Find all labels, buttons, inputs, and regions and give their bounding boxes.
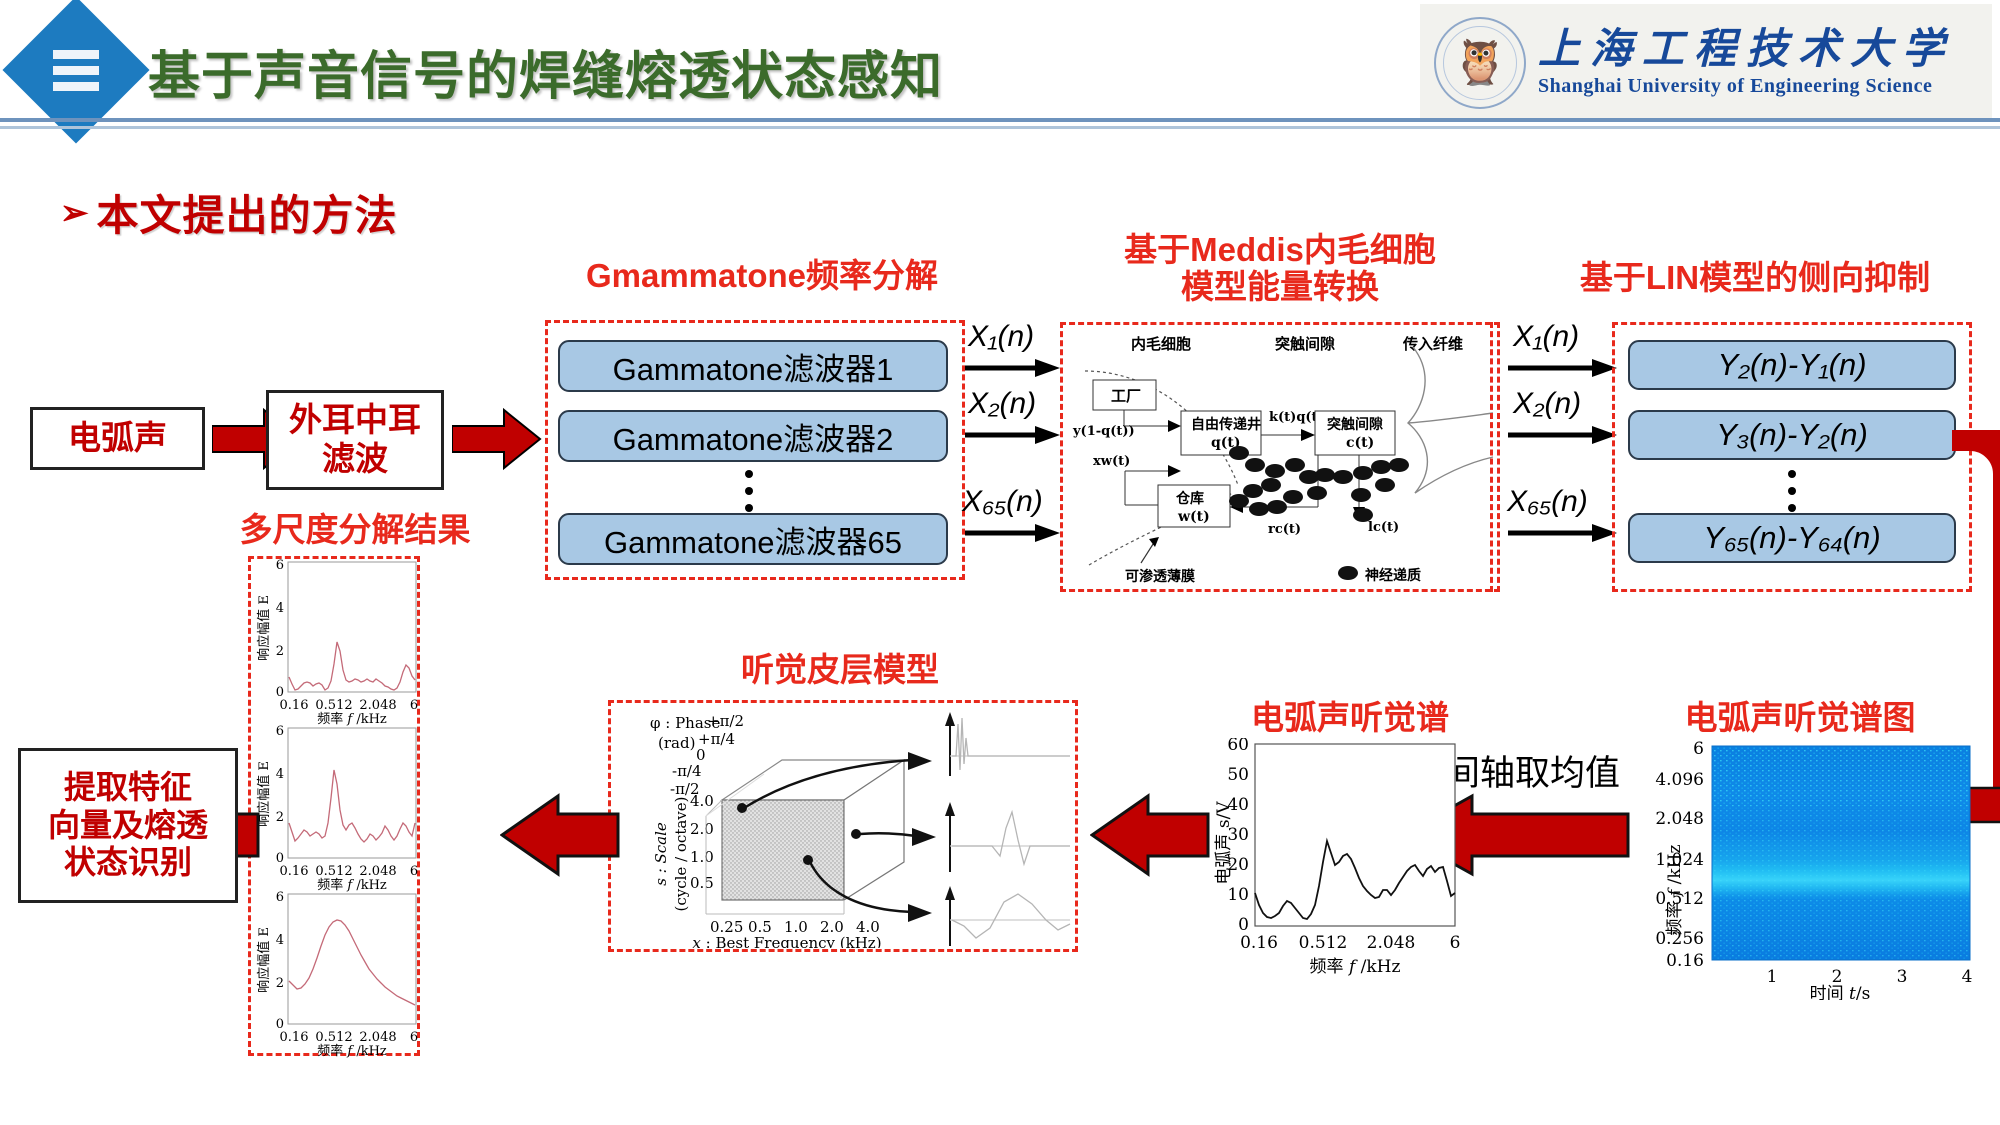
svg-text:响应幅值 E: 响应幅值 E bbox=[256, 927, 272, 993]
svg-text:4: 4 bbox=[276, 601, 284, 616]
svg-text:4.0: 4.0 bbox=[690, 792, 714, 810]
signal-x2-label: X₂(n) bbox=[968, 387, 1036, 421]
svg-text:4.096: 4.096 bbox=[1655, 770, 1704, 790]
signal-x1-label: X₁(n) bbox=[968, 320, 1034, 354]
svg-text:电弧声 s/V: 电弧声 s/V bbox=[1214, 801, 1234, 885]
svg-text:6: 6 bbox=[1450, 933, 1461, 953]
svg-text:c(t): c(t) bbox=[1346, 435, 1374, 451]
svg-text:6: 6 bbox=[1693, 740, 1704, 759]
svg-text:3: 3 bbox=[1897, 967, 1908, 987]
spectrum-chart: 60 50 40 30 20 10 0 电弧声 s/V 0.16 0.512 2… bbox=[1195, 738, 1495, 988]
svg-text:0: 0 bbox=[1238, 915, 1249, 935]
lin-input-x65-label: X₆₅(n) bbox=[1507, 485, 1588, 519]
svg-text:w(t): w(t) bbox=[1177, 509, 1210, 525]
svg-text:2.048: 2.048 bbox=[1367, 933, 1416, 953]
gammatone-filter-1: Gammatone滤波器1 bbox=[558, 340, 948, 392]
signal-x65-label: X₆₅(n) bbox=[962, 485, 1043, 519]
cortex-title: 听觉皮层模型 bbox=[690, 652, 990, 689]
svg-text:6: 6 bbox=[410, 698, 418, 713]
meddis-title: 基于Meddis内毛细胞 模型能量转换 bbox=[1060, 232, 1500, 306]
lin-box-65: Y₆₅(n)-Y₆₄(n) bbox=[1628, 513, 1956, 563]
svg-text:0.512: 0.512 bbox=[315, 864, 352, 879]
multiscale-chart-2: 6 4 2 0 响应幅值 E 0.16 0.512 2.048 6 频率 f /… bbox=[248, 722, 424, 892]
svg-text:0.16: 0.16 bbox=[1240, 933, 1278, 953]
bird-icon: 🦉 bbox=[1453, 41, 1508, 85]
svg-text:自由传递井: 自由传递井 bbox=[1191, 416, 1261, 433]
svg-text:2.0: 2.0 bbox=[690, 820, 714, 838]
svg-text:频率 f /kHz: 频率 f /kHz bbox=[1665, 845, 1685, 936]
arrow-spectrum-to-cortex bbox=[1090, 790, 1210, 880]
university-logo: 🦉 上海工程技术大学 Shanghai University of Engine… bbox=[1420, 4, 1992, 122]
svg-text:4: 4 bbox=[1962, 967, 1973, 987]
section-heading: ➢ 本文提出的方法 bbox=[60, 182, 398, 243]
svg-text:0.5: 0.5 bbox=[690, 874, 714, 892]
cortex-diagram: φ : Phase (rad) +π/2 +π/4 0 -π/4 -π/2 s … bbox=[612, 704, 1074, 948]
svg-text:神经递质: 神经递质 bbox=[1365, 567, 1421, 584]
header-divider-bottom bbox=[0, 126, 2000, 129]
svg-text:6: 6 bbox=[276, 558, 284, 573]
svg-text:响应幅值 E: 响应幅值 E bbox=[256, 595, 272, 661]
meddis-diagram: 内毛细胞 突触间隙 传入纤维 工厂 y(1-q(t)) 自由传递井 q(t) k… bbox=[1063, 325, 1497, 589]
diamond-bar-2 bbox=[53, 66, 99, 75]
section-number-glyph bbox=[24, 18, 128, 122]
multiscale-title: 多尺度分解结果 bbox=[210, 512, 500, 549]
svg-text:4: 4 bbox=[276, 767, 284, 782]
arrow-x2 bbox=[965, 425, 1061, 445]
svg-text:2.048: 2.048 bbox=[359, 1030, 396, 1045]
svg-text:0.16: 0.16 bbox=[280, 698, 309, 713]
svg-text:6: 6 bbox=[276, 724, 284, 739]
arrow-x65 bbox=[965, 523, 1061, 543]
lin-box-2: Y₃(n)-Y₂(n) bbox=[1628, 410, 1956, 460]
arrow-cortex-to-multiscale bbox=[500, 790, 620, 880]
svg-text:突触间隙: 突触间隙 bbox=[1275, 335, 1335, 353]
svg-text:(cycle / octave): (cycle / octave) bbox=[672, 797, 690, 912]
svg-text:6: 6 bbox=[276, 890, 284, 905]
svg-text:6: 6 bbox=[410, 1030, 418, 1045]
multiscale-chart-3: 6 4 2 0 响应幅值 E 0.16 0.512 2.048 6 频率 f /… bbox=[248, 888, 424, 1058]
svg-text:6: 6 bbox=[410, 864, 418, 879]
svg-text:rc(t): rc(t) bbox=[1268, 522, 1301, 537]
svg-text:y(1-q(t)): y(1-q(t)) bbox=[1072, 424, 1135, 439]
svg-text:10: 10 bbox=[1227, 885, 1249, 905]
svg-text:时间 t/s: 时间 t/s bbox=[1810, 984, 1871, 1000]
logo-name-en: Shanghai University of Engineering Scien… bbox=[1538, 75, 1954, 98]
gammatone-ellipsis bbox=[745, 470, 753, 512]
svg-text:2: 2 bbox=[276, 810, 284, 825]
svg-text:突触间隙: 突触间隙 bbox=[1327, 416, 1383, 433]
logo-name-cn: 上海工程技术大学 bbox=[1538, 28, 1954, 72]
svg-text:0.512: 0.512 bbox=[315, 698, 352, 713]
svg-text:xw(t): xw(t) bbox=[1093, 454, 1130, 469]
gammatone-filter-65: Gammatone滤波器65 bbox=[558, 513, 948, 565]
svg-text:50: 50 bbox=[1227, 765, 1249, 785]
arrow-x1 bbox=[965, 358, 1061, 378]
arrow-lin-x2 bbox=[1508, 425, 1618, 445]
svg-text:x : Best Frequency (kHz): x : Best Frequency (kHz) bbox=[692, 934, 881, 948]
svg-text:60: 60 bbox=[1227, 738, 1249, 755]
svg-text:lc(t): lc(t) bbox=[1368, 520, 1399, 535]
lin-title: 基于LIN模型的侧向抑制 bbox=[1520, 260, 1990, 297]
output-box-feature-extraction: 提取特征 向量及熔透 状态识别 bbox=[18, 748, 238, 903]
arrow-ear-to-gammatone bbox=[452, 406, 542, 472]
svg-text:2.048: 2.048 bbox=[1655, 809, 1704, 829]
university-seal-icon: 🦉 bbox=[1434, 17, 1526, 109]
svg-text:0.512: 0.512 bbox=[1299, 933, 1348, 953]
svg-text:0.512: 0.512 bbox=[315, 1030, 352, 1045]
multiscale-chart-1: 6 4 2 0 响应幅值 E 0.16 0.512 2.048 6 频率 f /… bbox=[248, 556, 424, 726]
svg-text:频率 f /kHz: 频率 f /kHz bbox=[1310, 957, 1401, 977]
spectrum-title: 电弧声听觉谱 bbox=[1200, 700, 1500, 737]
svg-text:频率 f /kHz: 频率 f /kHz bbox=[317, 1043, 387, 1058]
svg-text:传入纤维: 传入纤维 bbox=[1402, 335, 1463, 353]
svg-text:2.048: 2.048 bbox=[359, 864, 396, 879]
svg-text:0.16: 0.16 bbox=[280, 1030, 309, 1045]
svg-text:工厂: 工厂 bbox=[1111, 387, 1141, 405]
lin-input-x1-label: X₁(n) bbox=[1513, 320, 1579, 354]
section-heading-text: 本文提出的方法 bbox=[97, 182, 398, 243]
input-box-arc-sound: 电弧声 bbox=[30, 407, 205, 470]
diamond-bar-1 bbox=[53, 50, 99, 59]
svg-text:-π/4: -π/4 bbox=[672, 762, 702, 780]
svg-text:内毛细胞: 内毛细胞 bbox=[1131, 335, 1191, 353]
lin-input-divider bbox=[1490, 322, 1493, 592]
gammatone-title: Gmammatone频率分解 bbox=[552, 258, 972, 295]
svg-text:2.048: 2.048 bbox=[359, 698, 396, 713]
svg-text:s : Scale: s : Scale bbox=[652, 822, 670, 886]
svg-text:0.16: 0.16 bbox=[280, 864, 309, 879]
arrow-lin-x1 bbox=[1508, 358, 1618, 378]
lin-input-x2-label: X₂(n) bbox=[1513, 387, 1581, 421]
svg-text:2: 2 bbox=[276, 644, 284, 659]
lin-box-1: Y₂(n)-Y₁(n) bbox=[1628, 340, 1956, 390]
svg-text:2: 2 bbox=[276, 976, 284, 991]
page-title: 基于声音信号的焊缝熔透状态感知 bbox=[148, 34, 943, 109]
svg-text:+π/2: +π/2 bbox=[707, 712, 744, 730]
svg-text:1.0: 1.0 bbox=[690, 848, 714, 866]
header-divider-top bbox=[0, 118, 2000, 122]
gammatone-filter-2: Gammatone滤波器2 bbox=[558, 410, 948, 462]
svg-text:(rad): (rad) bbox=[658, 734, 695, 752]
bullet-arrow-icon: ➢ bbox=[60, 196, 89, 230]
diamond-bar-3 bbox=[53, 82, 99, 91]
svg-text:4: 4 bbox=[276, 933, 284, 948]
svg-text:可渗透薄膜: 可渗透薄膜 bbox=[1125, 568, 1195, 585]
svg-text:仓库: 仓库 bbox=[1175, 490, 1204, 507]
lin-ellipsis bbox=[1788, 470, 1796, 512]
svg-text:1: 1 bbox=[1767, 967, 1778, 987]
spectrogram-chart: 6 4.096 2.048 1.024 0.512 0.256 0.16 频率 … bbox=[1600, 740, 2000, 1000]
svg-text:0.16: 0.16 bbox=[1666, 951, 1704, 971]
spectrogram-title: 电弧声听觉谱图 bbox=[1610, 700, 1990, 737]
ear-filter-box: 外耳中耳 滤波 bbox=[266, 390, 444, 490]
arrow-lin-x65 bbox=[1508, 523, 1618, 543]
